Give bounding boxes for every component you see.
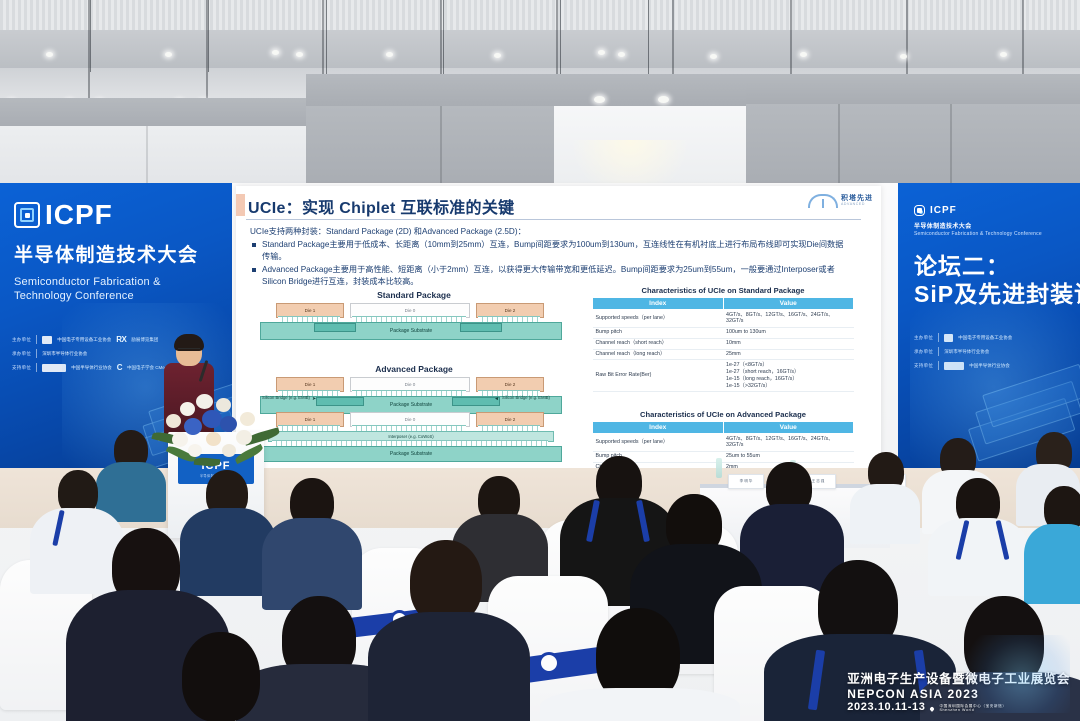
- conference-photo-scene: ICPF 半导体制造技术大会 Semiconductor Fabrication…: [0, 0, 1080, 721]
- bridge-label-right: Silicon Bridge (e.g. EMIB): [502, 396, 558, 401]
- table-row: Channel reach（long reach） 25mm: [593, 349, 854, 360]
- audience-body-front: [540, 688, 740, 721]
- sponsor-logo-mark: [944, 334, 953, 342]
- table-header-row: Index Value: [593, 298, 854, 310]
- wall-panel-seam: [440, 106, 442, 186]
- cell-index: Supported speeds（per lane）: [593, 434, 724, 452]
- vendor-arch-icon: [808, 194, 838, 208]
- audience-body: [928, 518, 1028, 596]
- ceiling-trim-panel: [0, 98, 306, 126]
- divider: [36, 349, 37, 358]
- title-divider: [246, 219, 861, 220]
- icpf-logo-right: ICPF: [914, 205, 957, 216]
- rx-badge-name: 励展博览集团: [131, 337, 158, 343]
- audience-body: [30, 508, 124, 594]
- table-standard-package: Characteristics of UCIe on Standard Pack…: [592, 286, 854, 392]
- wall-panel-seam: [950, 104, 952, 186]
- diagram-title-advanced: Advanced Package: [254, 364, 574, 374]
- sponsor-label: 承办单位: [12, 351, 31, 357]
- sponsor-logo-mark: [42, 336, 52, 344]
- speaker-glasses: [178, 348, 200, 354]
- cell-index: Supported speeds（per lane）: [593, 310, 724, 328]
- table-row: Channel reach（short reach） 10mm: [593, 338, 854, 349]
- cell-value: 10mm: [723, 338, 854, 349]
- ceiling-hanger-wire: [443, 0, 444, 76]
- table-row: Supported speeds（per lane） 4GT/s、8GT/s、1…: [593, 434, 854, 452]
- ceiling-spotlight: [46, 52, 53, 57]
- ceiling-spotlight: [165, 52, 172, 57]
- ceiling-beam-band: [0, 30, 1080, 72]
- ceiling-spotlight: [1000, 52, 1007, 57]
- col-header-value: Value: [723, 298, 854, 310]
- ceiling-hanger-wire: [90, 0, 91, 72]
- water-bottle: [716, 458, 722, 478]
- table-caption-standard: Characteristics of UCIe on Standard Pack…: [592, 286, 854, 295]
- cell-index: Channel reach（long reach）: [593, 349, 724, 360]
- arrow-left-icon: ➤: [312, 396, 316, 402]
- ceiling-hanger-wire: [326, 0, 327, 76]
- package-substrate: Package Substrate: [260, 446, 562, 462]
- title-accent-bar: [236, 194, 245, 216]
- sponsor-badge: C: [117, 363, 122, 372]
- slide-bullet-list: Standard Package主要用于低成本、长距离（10mm到25mm）互连…: [250, 239, 850, 288]
- wall-panel-grey-right: [746, 104, 1080, 186]
- trace-segment: [314, 323, 356, 332]
- col-header-value: Value: [723, 422, 854, 434]
- silicon-bridge-right: [452, 397, 500, 406]
- table-header-row: Index Value: [593, 422, 854, 434]
- ceiling-spotlight: [618, 52, 625, 57]
- divider: [938, 347, 939, 356]
- sponsor-name: 中国电子专用设备工业协会: [958, 335, 1012, 341]
- icpf-logo-left: ICPF: [14, 199, 113, 231]
- silicon-bridge-left: [316, 397, 364, 406]
- diagram-advanced-package: Advanced Package Die 1 Die 0 Die 2 Packa…: [254, 364, 574, 419]
- table-row: Supported speeds（per lane） 4GT/s、8GT/s、1…: [593, 310, 854, 328]
- ceiling-hanger-wire: [208, 0, 209, 72]
- ceiling-spotlight: [386, 52, 393, 57]
- right-banner-headline-2: SiP及先进封装论坛: [914, 281, 1080, 309]
- ceiling-spotlight: [296, 52, 303, 57]
- slide-bullet-2: Advanced Package主要用于高性能、短距离（小于2mm）互连，以获得…: [250, 264, 850, 288]
- table-row: Bump pitch 100um to 130um: [593, 327, 854, 338]
- divider: [938, 361, 939, 370]
- diagram-title-standard: Standard Package: [254, 290, 574, 300]
- package-substrate: Package Substrate: [260, 322, 562, 340]
- cell-index: Raw Bit Error Rate(Ber): [593, 360, 724, 392]
- cell-index: Bump pitch: [593, 327, 724, 338]
- presentation-slide: UCIe：实现 Chiplet 互联标准的关键 积塔先进 ADVANCED UC…: [236, 186, 881, 468]
- ceiling-spotlight: [710, 54, 717, 59]
- divider: [36, 363, 37, 372]
- flower-arrangement: [150, 388, 280, 470]
- vendor-logo: 积塔先进 ADVANCED: [808, 194, 873, 208]
- wall-wash-light: [594, 96, 605, 103]
- wall-panel-grey-left: [306, 106, 554, 186]
- audience-body: [850, 484, 920, 544]
- audience-body: [1024, 524, 1080, 604]
- cell-value: 1e-27（<8GT/s） 1e-27（short reach，16GT/s） …: [723, 360, 854, 392]
- sponsor-name: 中国半导体行业协会: [969, 363, 1010, 369]
- watermark-graphic: [950, 635, 1070, 713]
- ceiling-trim-panel: [306, 74, 746, 106]
- wall-panel-light: [0, 126, 306, 186]
- icpf-mark-icon: [914, 205, 925, 216]
- divider: [36, 335, 37, 344]
- right-banner-sponsor-block: 主办单位 中国电子专用设备工业协会 承办单位 深圳市半导体行业协会 支持单位 中…: [914, 333, 1080, 375]
- ceiling-spotlight: [494, 53, 501, 58]
- ceiling-spotlight: [900, 54, 907, 59]
- sponsor-logo-mark: [944, 362, 964, 370]
- col-header-index: Index: [593, 422, 724, 434]
- icpf-mark-icon: [14, 202, 40, 228]
- icpf-wordmark: ICPF: [930, 205, 957, 216]
- ceiling-spotlight: [272, 50, 279, 55]
- slide-intro-block: UCIe支持两种封装：Standard Package (2D) 和Advanc…: [250, 226, 850, 288]
- wall-panel-seam: [838, 104, 840, 186]
- event-watermark: 亚洲电子生产设备暨微电子工业展览会 NEPCON ASIA 2023 2023.…: [847, 668, 1070, 713]
- diagram-interposer-package: Die 1 Die 0 Die 2 Interposer (e.g. CoWoS…: [254, 412, 574, 464]
- table-caption-advanced: Characteristics of UCIe on Advanced Pack…: [592, 410, 854, 419]
- audience-head-front: [182, 632, 260, 721]
- slide-bullet-1: Standard Package主要用于低成本、长距离（10mm到25mm）互连…: [250, 239, 850, 263]
- right-banner-subtitle-en: Semiconductor Fabrication & Technology C…: [914, 231, 1042, 237]
- sponsor-name: 中国电子专用设备工业协会: [57, 337, 111, 343]
- ceiling-hanger-wire: [560, 0, 561, 76]
- trace-segment: [460, 323, 502, 332]
- vendor-name-en: ADVANCED: [841, 203, 873, 207]
- cell-value: 4GT/s、8GT/s、12GT/s、16GT/s、24GT/s、32GT/s: [723, 434, 854, 452]
- slide-title: UCIe：实现 Chiplet 互联标准的关键: [248, 194, 514, 218]
- chair-sash-ring: [538, 652, 560, 674]
- sponsor-label: 主办单位: [914, 335, 933, 341]
- sponsor-label: 支持单位: [12, 365, 31, 371]
- sponsor-label: 主办单位: [12, 337, 31, 343]
- cell-value: 4GT/s、8GT/s、12GT/s、16GT/s、24GT/s、32GT/s: [723, 310, 854, 328]
- table-row: Raw Bit Error Rate(Ber) 1e-27（<8GT/s） 1e…: [593, 360, 854, 392]
- location-pin-icon: [930, 706, 936, 712]
- wall-wash-light: [658, 96, 669, 103]
- name-card: 李 明 华: [728, 474, 764, 489]
- sponsor-logo-mark: [42, 364, 66, 372]
- cell-index: Channel reach（short reach）: [593, 338, 724, 349]
- left-banner-title-en-1: Semiconductor Fabrication &: [14, 275, 161, 290]
- rx-badge: RX: [116, 335, 126, 344]
- icpf-wordmark: ICPF: [45, 199, 113, 231]
- sponsor-name: 深圳市半导体行业协会: [42, 351, 87, 357]
- sponsor-row: 主办单位 中国电子专用设备工业协会: [914, 333, 1080, 342]
- cell-value: 25um to 55um: [723, 451, 854, 462]
- sponsor-name: 深圳市半导体行业协会: [944, 349, 989, 355]
- left-banner-title-cn: 半导体制造技术大会: [14, 245, 199, 267]
- wall-panel-seam: [146, 126, 148, 186]
- ceiling-trim-panel: [746, 74, 1080, 104]
- right-banner-headline-1: 论坛二：: [914, 253, 1010, 281]
- diagram-standard-package: Standard Package Die 1 Die 0 Die 2 Packa…: [254, 290, 574, 345]
- sponsor-row: 承办单位 深圳市半导体行业协会: [914, 347, 1080, 356]
- right-banner-subtitle-cn: 半导体制造技术大会: [914, 221, 972, 230]
- divider: [938, 333, 939, 342]
- ceiling-spotlight: [800, 52, 807, 57]
- sponsor-name: 中国半导体行业协会: [71, 365, 112, 371]
- ceiling-spotlight: [598, 50, 605, 55]
- sponsor-label: 承办单位: [914, 349, 933, 355]
- audience-body-front: [368, 612, 530, 721]
- left-banner-title-en-2: Technology Conference: [14, 289, 134, 304]
- sponsor-label: 支持单位: [914, 363, 933, 369]
- watermark-date: 2023.10.11-13: [847, 701, 925, 713]
- cell-value: 25mm: [723, 349, 854, 360]
- arrow-right-icon: ◄: [494, 396, 499, 402]
- slide-intro-text: UCIe支持两种封装：Standard Package (2D) 和Advanc…: [250, 226, 850, 238]
- col-header-index: Index: [593, 298, 724, 310]
- cell-value: 100um to 130um: [723, 327, 854, 338]
- ceiling-mesh-panel: [0, 0, 1080, 34]
- sponsor-row: 支持单位 中国半导体行业协会: [914, 361, 1080, 370]
